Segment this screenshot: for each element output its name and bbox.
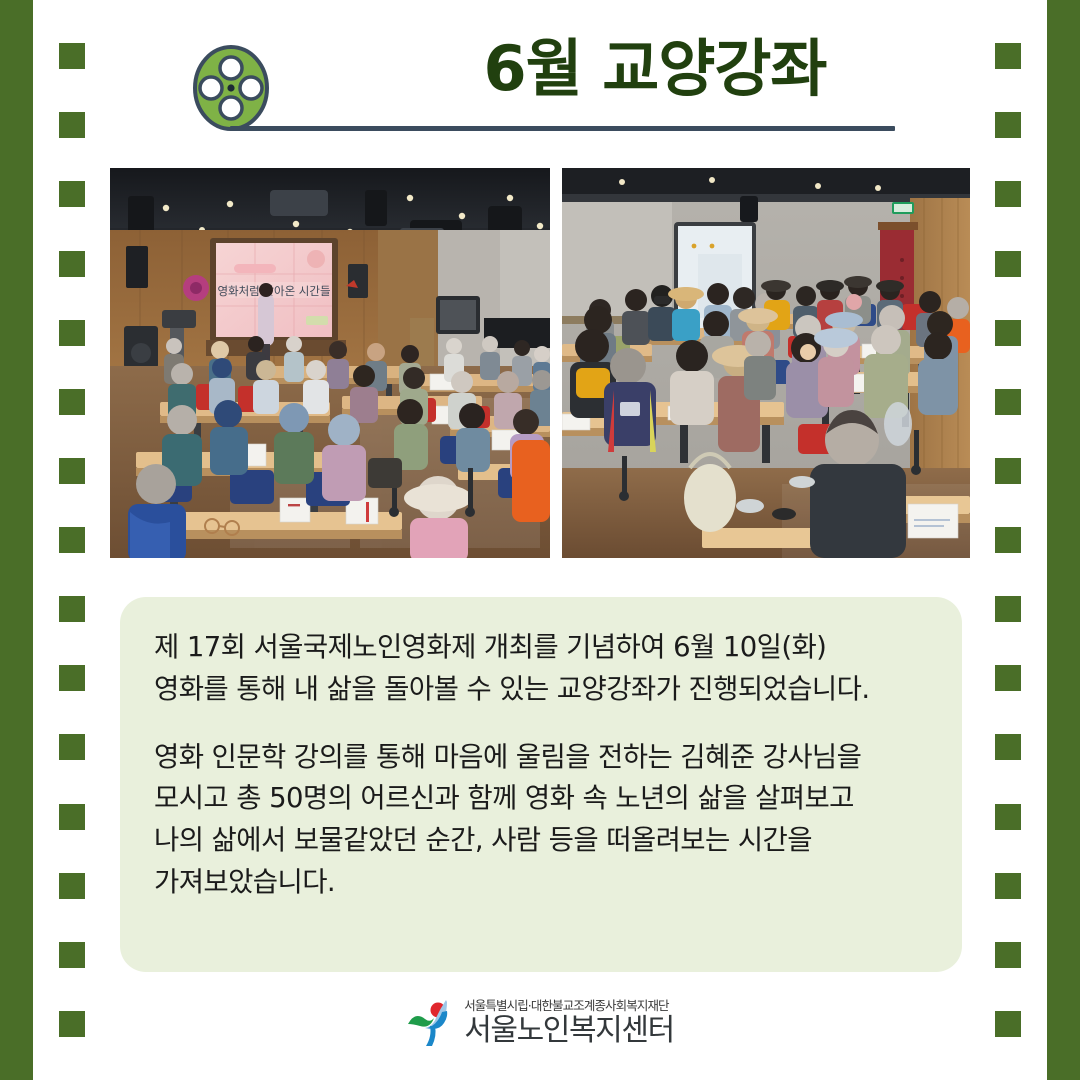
paragraph-1-line-2: 영화를 통해 내 삶을 돌아볼 수 있는 교양강좌가 진행되었습니다.: [154, 669, 928, 711]
svg-text:영화처럼 살아온 시간들: 영화처럼 살아온 시간들: [217, 284, 330, 298]
footer-logo: 서울특별시립·대한불교조계종사회복지재단 서울노인복지센터: [0, 988, 1080, 1058]
film-perforation: [995, 596, 1021, 622]
title-divider: [230, 126, 895, 131]
film-perforation: [59, 804, 85, 830]
film-perforation: [995, 527, 1021, 553]
film-perforation: [59, 112, 85, 138]
footer-logo-name: 서울노인복지센터: [464, 1016, 674, 1046]
description-card: 제 17회 서울국제노인영화제 개최를 기념하여 6월 10일(화) 영화를 통…: [120, 597, 962, 972]
page-title: 6월 교양강좌: [340, 38, 970, 100]
film-perforation: [995, 112, 1021, 138]
film-perforation: [59, 320, 85, 346]
photo-audience-seated: [562, 168, 970, 558]
film-perforation: [995, 181, 1021, 207]
paragraph-2-line-1: 영화 인문학 강의를 통해 마음에 울림을 전하는 김혜준 강사님을: [154, 737, 928, 779]
film-perforation: [59, 251, 85, 277]
film-strip-right-bar: [1047, 0, 1080, 1080]
paragraph-2-line-4: 가져보았습니다.: [154, 862, 928, 904]
film-perforation: [59, 734, 85, 760]
film-perforation: [995, 942, 1021, 968]
film-perforation: [59, 527, 85, 553]
film-perforation: [995, 389, 1021, 415]
film-perforation: [59, 43, 85, 69]
film-perforation: [59, 181, 85, 207]
promo-card: 6월 교양강좌: [0, 0, 1080, 1080]
film-perforation: [995, 804, 1021, 830]
film-strip-left-bar: [0, 0, 33, 1080]
film-perforation: [995, 873, 1021, 899]
film-perforation: [59, 665, 85, 691]
film-perforation: [995, 458, 1021, 484]
footer-logo-text: 서울특별시립·대한불교조계종사회복지재단 서울노인복지센터: [464, 1000, 674, 1046]
film-perforation: [995, 251, 1021, 277]
film-perforation: [59, 458, 85, 484]
film-reel-icon: [193, 44, 273, 136]
paragraph-1: 제 17회 서울국제노인영화제 개최를 기념하여 6월 10일(화) 영화를 통…: [154, 627, 928, 711]
film-perforation: [59, 942, 85, 968]
seoul-senior-welfare-center-logo-icon: [406, 998, 458, 1048]
film-perforation: [995, 734, 1021, 760]
paragraph-1-line-1: 제 17회 서울국제노인영화제 개최를 기념하여 6월 10일(화): [154, 627, 928, 669]
film-perforations-left: [59, 0, 85, 1080]
film-perforation: [995, 43, 1021, 69]
film-perforation: [995, 320, 1021, 346]
paragraph-2-line-3: 나의 삶에서 보물같았던 순간, 사람 등을 떠올려보는 시간을: [154, 820, 928, 862]
film-perforations-right: [995, 0, 1021, 1080]
photo-lecture-hall-wide: 영화처럼 살아온 시간들: [110, 168, 550, 558]
film-perforation: [59, 596, 85, 622]
paragraph-2: 영화 인문학 강의를 통해 마음에 울림을 전하는 김혜준 강사님을 모시고 총…: [154, 737, 928, 904]
film-perforation: [59, 873, 85, 899]
paragraph-2-line-2: 모시고 총 50명의 어르신과 함께 영화 속 노년의 삶을 살펴보고: [154, 778, 928, 820]
film-perforation: [995, 665, 1021, 691]
film-perforation: [59, 389, 85, 415]
photo-gallery: 영화처럼 살아온 시간들: [110, 168, 970, 558]
footer-logo-subtitle: 서울특별시립·대한불교조계종사회복지재단: [464, 1000, 674, 1013]
card-header: 6월 교양강좌: [110, 28, 970, 148]
